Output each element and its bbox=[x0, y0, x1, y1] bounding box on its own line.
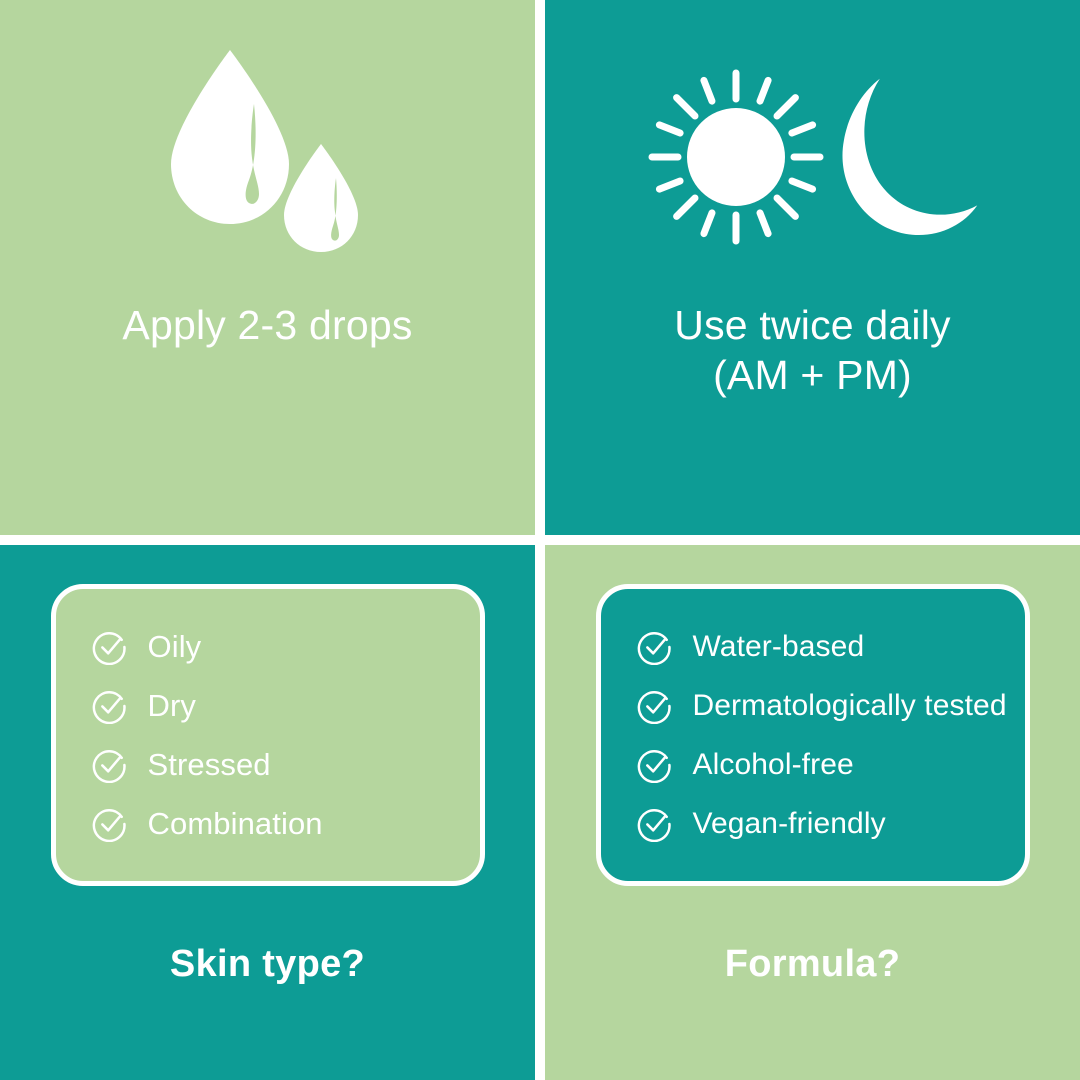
list-item-label: Stressed bbox=[148, 747, 271, 783]
skin-type-checklist-card: Oily Dry Stressed bbox=[51, 584, 485, 886]
frequency-caption-line1: Use twice daily bbox=[545, 300, 1080, 350]
infographic-root: Apply 2-3 drops bbox=[0, 0, 1080, 1080]
apply-caption: Apply 2-3 drops bbox=[0, 300, 535, 350]
list-item-label: Oily bbox=[148, 629, 202, 665]
panel-formula: Water-based Dermatologically tested Alco… bbox=[545, 545, 1080, 1080]
list-item[interactable]: Combination bbox=[92, 806, 446, 842]
list-item[interactable]: Stressed bbox=[92, 747, 446, 783]
list-item[interactable]: Dry bbox=[92, 688, 446, 724]
skin-type-card-wrap: Oily Dry Stressed bbox=[0, 545, 535, 905]
formula-question: Formula? bbox=[545, 943, 1080, 986]
list-item[interactable]: Dermatologically tested bbox=[637, 688, 991, 724]
list-item-label: Combination bbox=[148, 806, 323, 842]
list-item-label: Dermatologically tested bbox=[693, 689, 1007, 723]
sun-icon bbox=[652, 73, 820, 241]
sun-moon-icon-area bbox=[545, 0, 1080, 300]
check-circle-icon bbox=[637, 806, 673, 842]
list-item-label: Alcohol-free bbox=[693, 748, 854, 782]
list-item-label: Vegan-friendly bbox=[693, 807, 886, 841]
crescent-moon-icon bbox=[826, 64, 980, 249]
apply-caption-line1: Apply 2-3 drops bbox=[0, 300, 535, 350]
formula-card-wrap: Water-based Dermatologically tested Alco… bbox=[545, 545, 1080, 905]
water-drops-icon bbox=[153, 42, 383, 272]
list-item-label: Water-based bbox=[693, 630, 865, 664]
check-circle-icon bbox=[637, 747, 673, 783]
list-item-label: Dry bbox=[148, 688, 197, 724]
check-circle-icon bbox=[637, 629, 673, 665]
list-item[interactable]: Oily bbox=[92, 629, 446, 665]
panel-frequency: Use twice daily (AM + PM) bbox=[545, 0, 1080, 535]
check-circle-icon bbox=[92, 747, 128, 783]
frequency-caption: Use twice daily (AM + PM) bbox=[545, 300, 1080, 400]
check-circle-icon bbox=[92, 688, 128, 724]
skin-type-question: Skin type? bbox=[0, 943, 535, 986]
frequency-caption-line2: (AM + PM) bbox=[545, 350, 1080, 400]
check-circle-icon bbox=[92, 806, 128, 842]
check-circle-icon bbox=[92, 629, 128, 665]
panel-apply-drops: Apply 2-3 drops bbox=[0, 0, 535, 535]
water-drops-icon-area bbox=[0, 0, 535, 300]
list-item[interactable]: Alcohol-free bbox=[637, 747, 991, 783]
list-item[interactable]: Water-based bbox=[637, 629, 991, 665]
list-item[interactable]: Vegan-friendly bbox=[637, 806, 991, 842]
check-circle-icon bbox=[637, 688, 673, 724]
panel-skin-type: Oily Dry Stressed bbox=[0, 545, 535, 1080]
sun-moon-icon-group bbox=[628, 57, 998, 257]
formula-checklist-card: Water-based Dermatologically tested Alco… bbox=[596, 584, 1030, 886]
